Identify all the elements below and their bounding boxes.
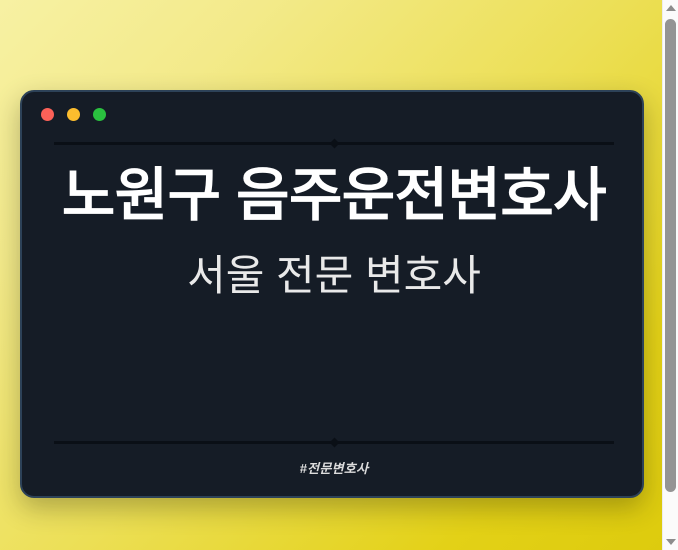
scroll-down-button[interactable] bbox=[663, 534, 678, 550]
vertical-scrollbar[interactable] bbox=[662, 0, 678, 550]
maximize-button[interactable] bbox=[93, 108, 106, 121]
divider-bottom bbox=[54, 441, 614, 444]
close-button[interactable] bbox=[41, 108, 54, 121]
card-hashtag: #전문변호사 bbox=[300, 461, 369, 476]
card-title: 노원구 음주운전변호사 bbox=[54, 163, 614, 229]
card-subtitle-container: 서울 전문 변호사 bbox=[54, 229, 614, 301]
quote-card: 노원구 음주운전변호사 서울 전문 변호사 #전문변호사 bbox=[20, 90, 644, 498]
divider-top bbox=[54, 142, 614, 145]
card-title-container: 노원구 음주운전변호사 bbox=[54, 145, 614, 229]
browser-viewport: 노원구 음주운전변호사 서울 전문 변호사 #전문변호사 bbox=[0, 0, 678, 550]
scrollbar-thumb[interactable] bbox=[665, 19, 676, 492]
minimize-button[interactable] bbox=[67, 108, 80, 121]
chevron-down-icon bbox=[666, 539, 676, 545]
card-content: 노원구 음주운전변호사 서울 전문 변호사 #전문변호사 bbox=[54, 142, 614, 478]
scroll-up-button[interactable] bbox=[663, 0, 678, 16]
card-tag-container: #전문변호사 bbox=[54, 444, 614, 478]
card-subtitle: 서울 전문 변호사 bbox=[54, 251, 614, 301]
chevron-up-icon bbox=[666, 5, 676, 11]
page-canvas: 노원구 음주운전변호사 서울 전문 변호사 #전문변호사 bbox=[0, 0, 662, 550]
window-controls bbox=[41, 108, 106, 121]
